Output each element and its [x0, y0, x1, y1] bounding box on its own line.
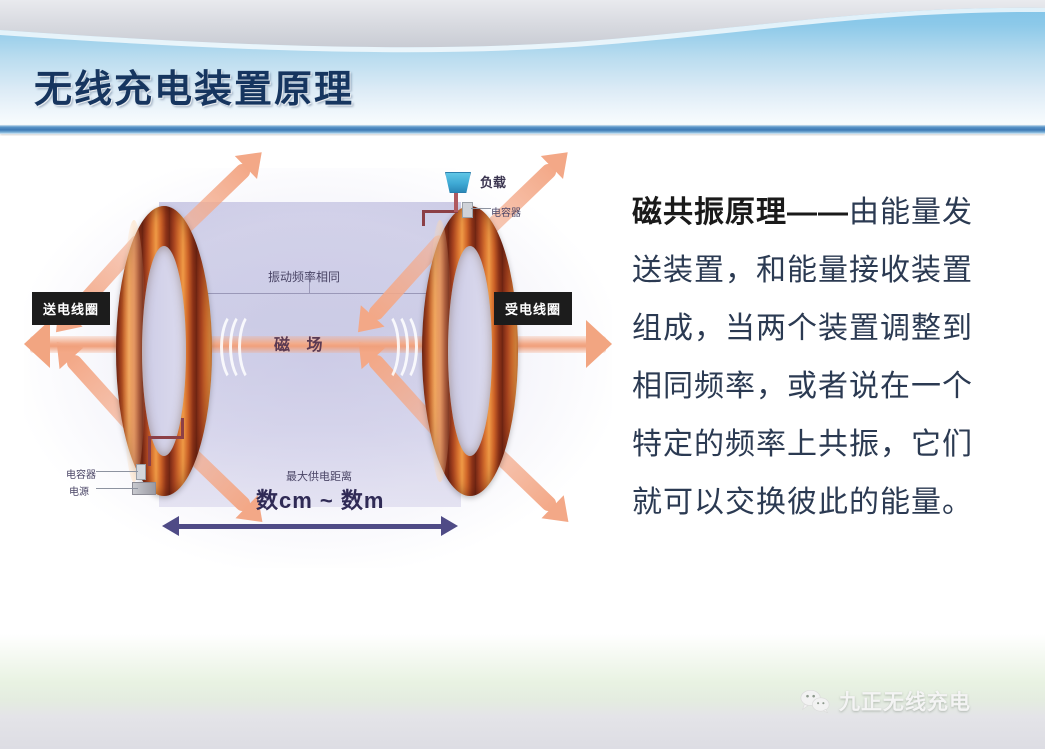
resonance-wave-left [220, 311, 258, 377]
watermark: 九正无线充电 [800, 686, 971, 716]
capacitor-right-label: 电容器 [491, 204, 521, 219]
source-wire-vertical-upper [181, 418, 184, 438]
capacitor-left-label: 电容器 [66, 466, 96, 481]
load-wire-horizontal [422, 210, 458, 213]
capacitor-left-leader [96, 471, 138, 472]
header-wave-decoration [0, 0, 1045, 60]
field-arrow-right [586, 320, 612, 368]
source-wire-vertical-lower [148, 438, 151, 466]
magnetic-field-label: 磁 场 [274, 331, 328, 355]
watermark-text: 九正无线充电 [839, 686, 971, 716]
load-wire-vertical [422, 210, 425, 226]
distance-caption: 最大供电距离 [286, 468, 352, 484]
resonance-wave-right [380, 311, 418, 377]
header-divider [0, 125, 1045, 134]
wireless-charging-diagram: 送电线圈 受电线圈 振动频率相同 磁 场 最大供电距离 数cm ~ 数m 负载 … [24, 168, 612, 568]
capacitor-left-icon [136, 464, 146, 480]
description-text: 磁共振原理——由能量发送装置，和能量接收装置组成，当两个装置调整到相同频率，或者… [632, 184, 1002, 532]
receive-coil [422, 206, 518, 496]
transmit-coil [116, 206, 212, 496]
page-header: 无线充电装置原理 [0, 0, 1045, 136]
page-title: 无线充电装置原理 [34, 58, 354, 113]
frequency-label: 振动频率相同 [268, 268, 340, 285]
description-rest: 由能量发送装置，和能量接收装置组成，当两个装置调整到相同频率，或者说在一个特定的… [632, 196, 973, 519]
source-wire-horizontal [148, 436, 184, 439]
distance-value: 数cm ~ 数m [256, 483, 384, 515]
receive-coil-label: 受电线圈 [494, 292, 572, 325]
load-icon [445, 172, 471, 193]
capacitor-right-icon [462, 202, 473, 218]
transmit-coil-label: 送电线圈 [32, 292, 110, 325]
load-lead [454, 190, 458, 212]
description-lead: 磁共振原理—— [632, 196, 849, 229]
distance-arrow [162, 516, 458, 536]
power-source-leader [96, 488, 138, 489]
capacitor-right-leader [471, 208, 491, 209]
load-label: 负载 [480, 172, 506, 191]
field-arrow-left [24, 320, 50, 368]
power-source-label: 电源 [69, 483, 89, 498]
wechat-icon [800, 689, 830, 713]
